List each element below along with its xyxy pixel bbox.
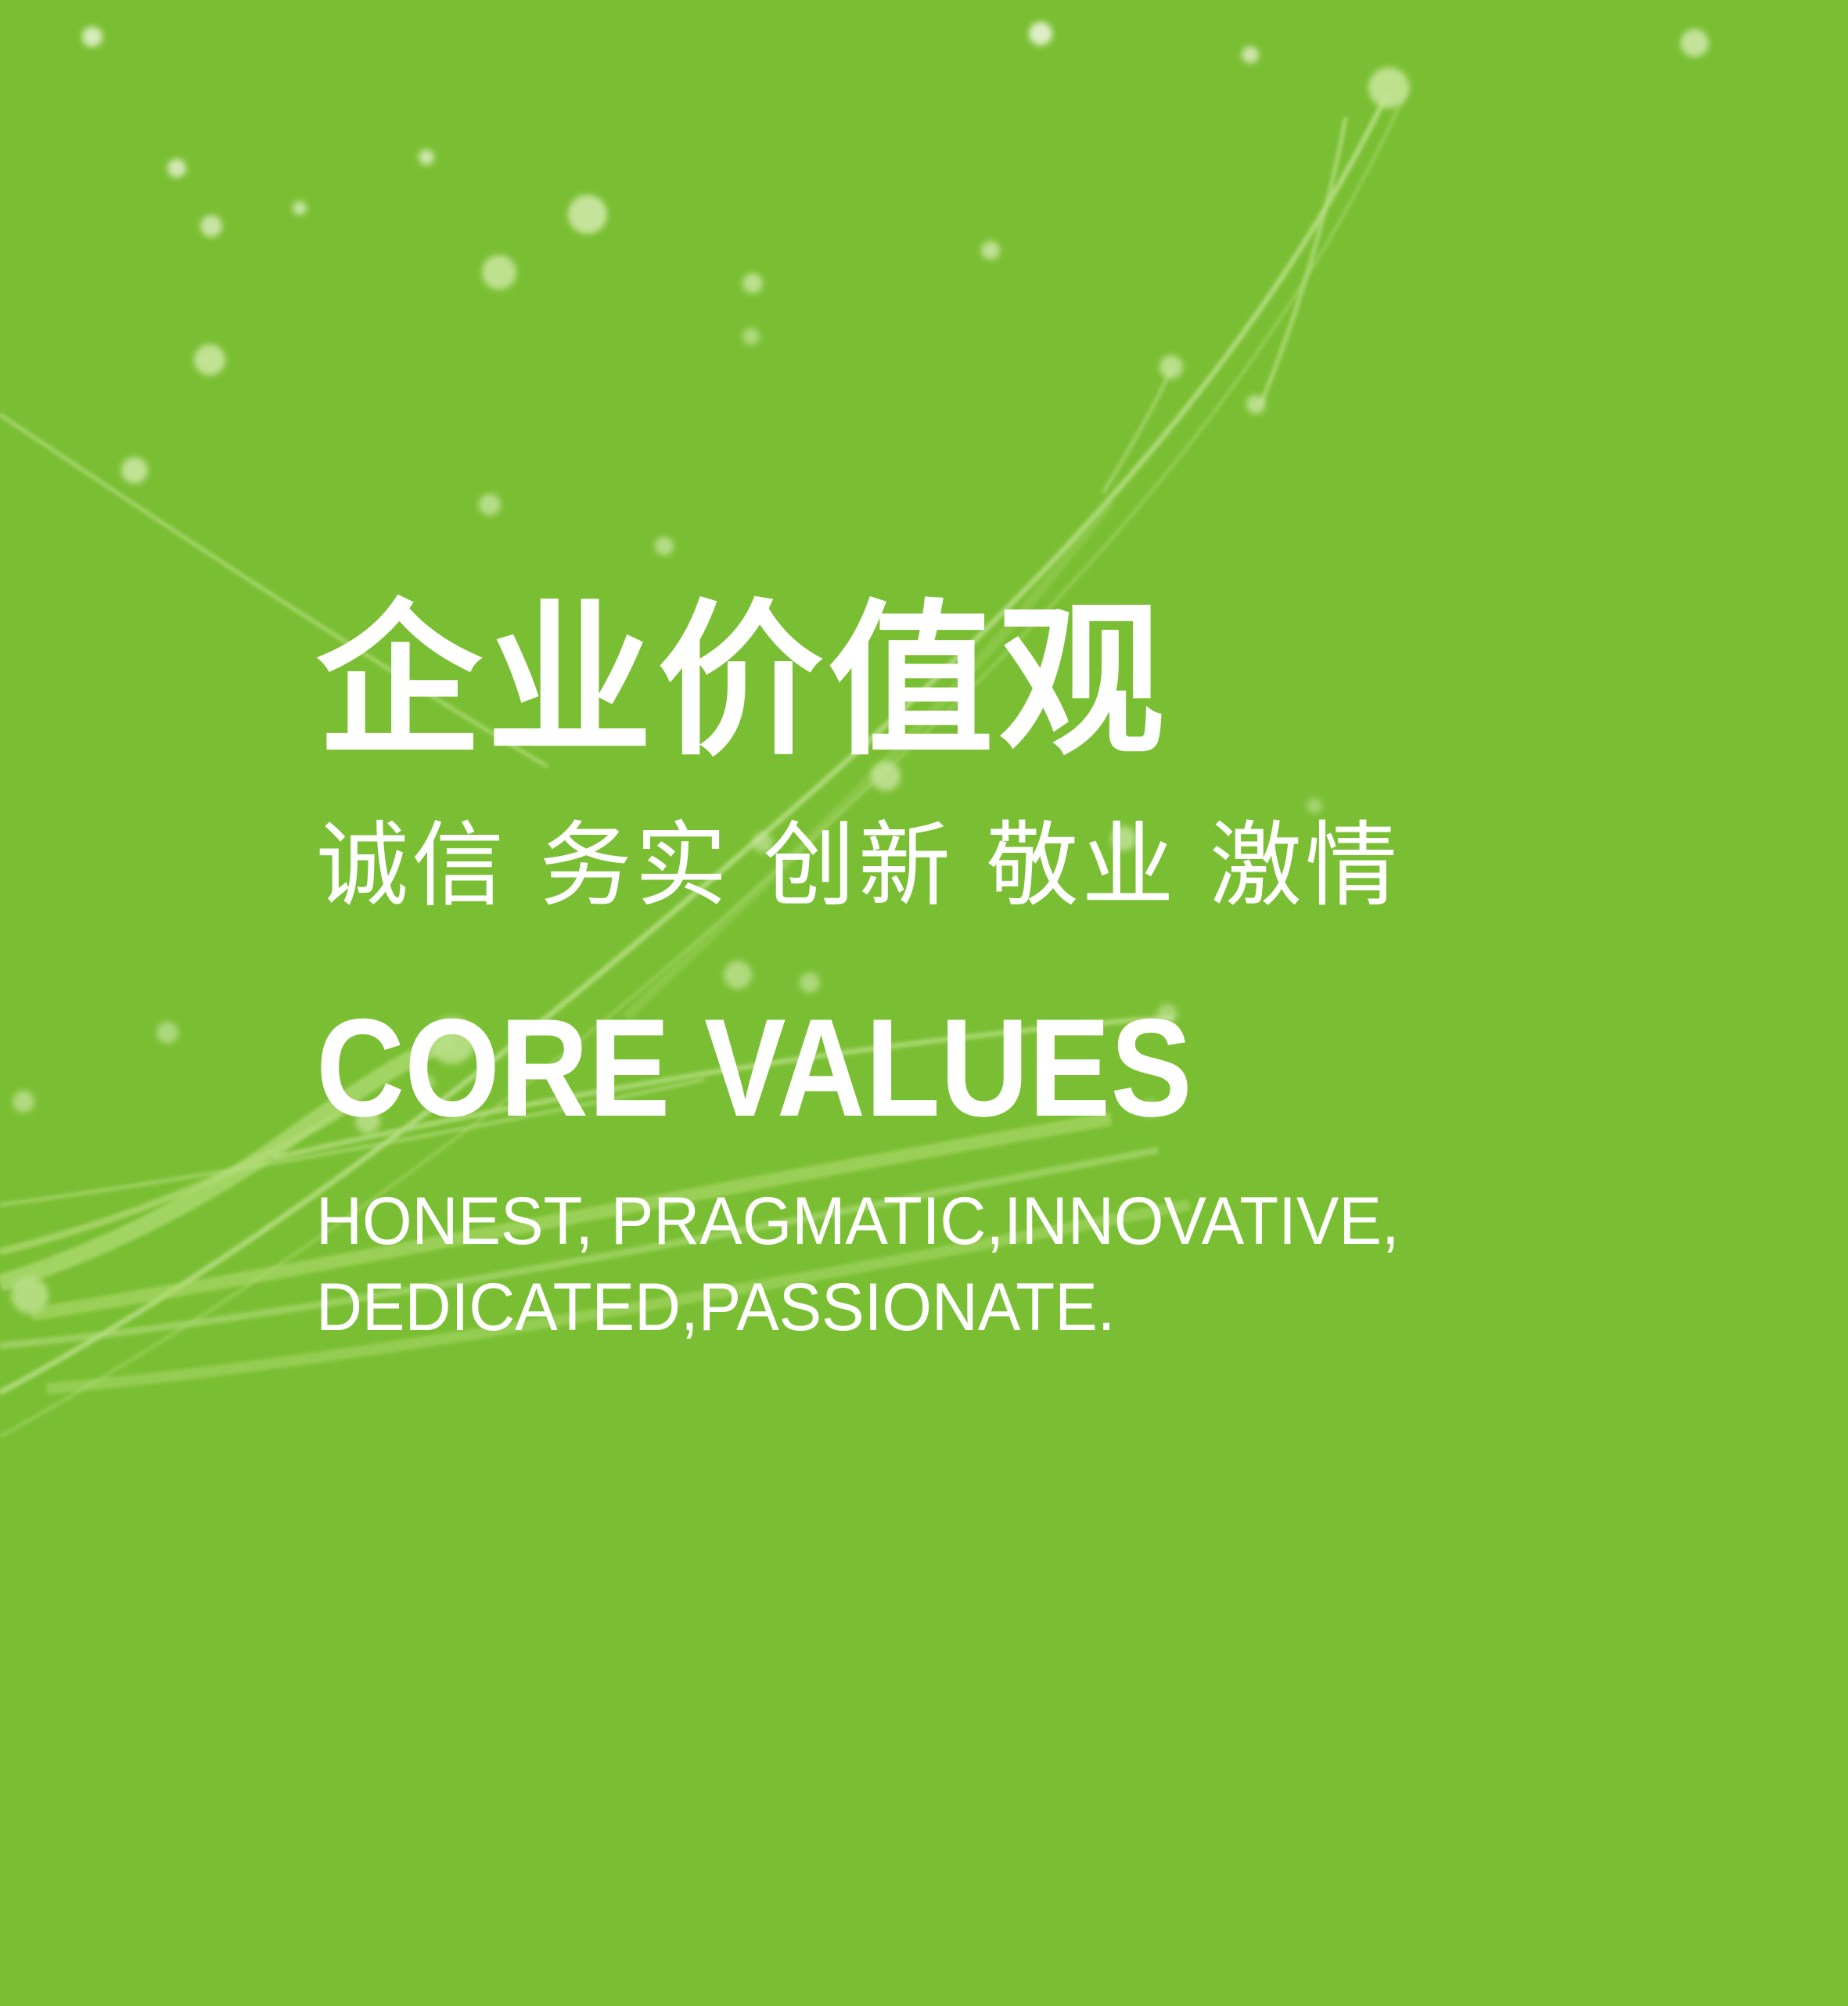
body-line-1: HONEST, PRAGMATIC,INNOVATIVE, xyxy=(316,1178,1654,1264)
body-text-english: HONEST, PRAGMATIC,INNOVATIVE, DEDICATED,… xyxy=(316,1178,1654,1350)
headline-block: 企业价值观 诚信 务实 创新 敬业 激情 CORE VALUES HONEST,… xyxy=(316,595,1724,1350)
page-title-chinese: 企业价值观 xyxy=(316,595,1724,769)
page-title-english: CORE VALUES xyxy=(316,998,1555,1138)
body-line-2: DEDICATED,PASSIONATE. xyxy=(316,1264,1654,1350)
core-values-poster: 企业价值观 诚信 务实 创新 敬业 激情 CORE VALUES HONEST,… xyxy=(0,0,1848,2006)
subtitle-chinese: 诚信 务实 创新 敬业 激情 xyxy=(316,808,1724,924)
